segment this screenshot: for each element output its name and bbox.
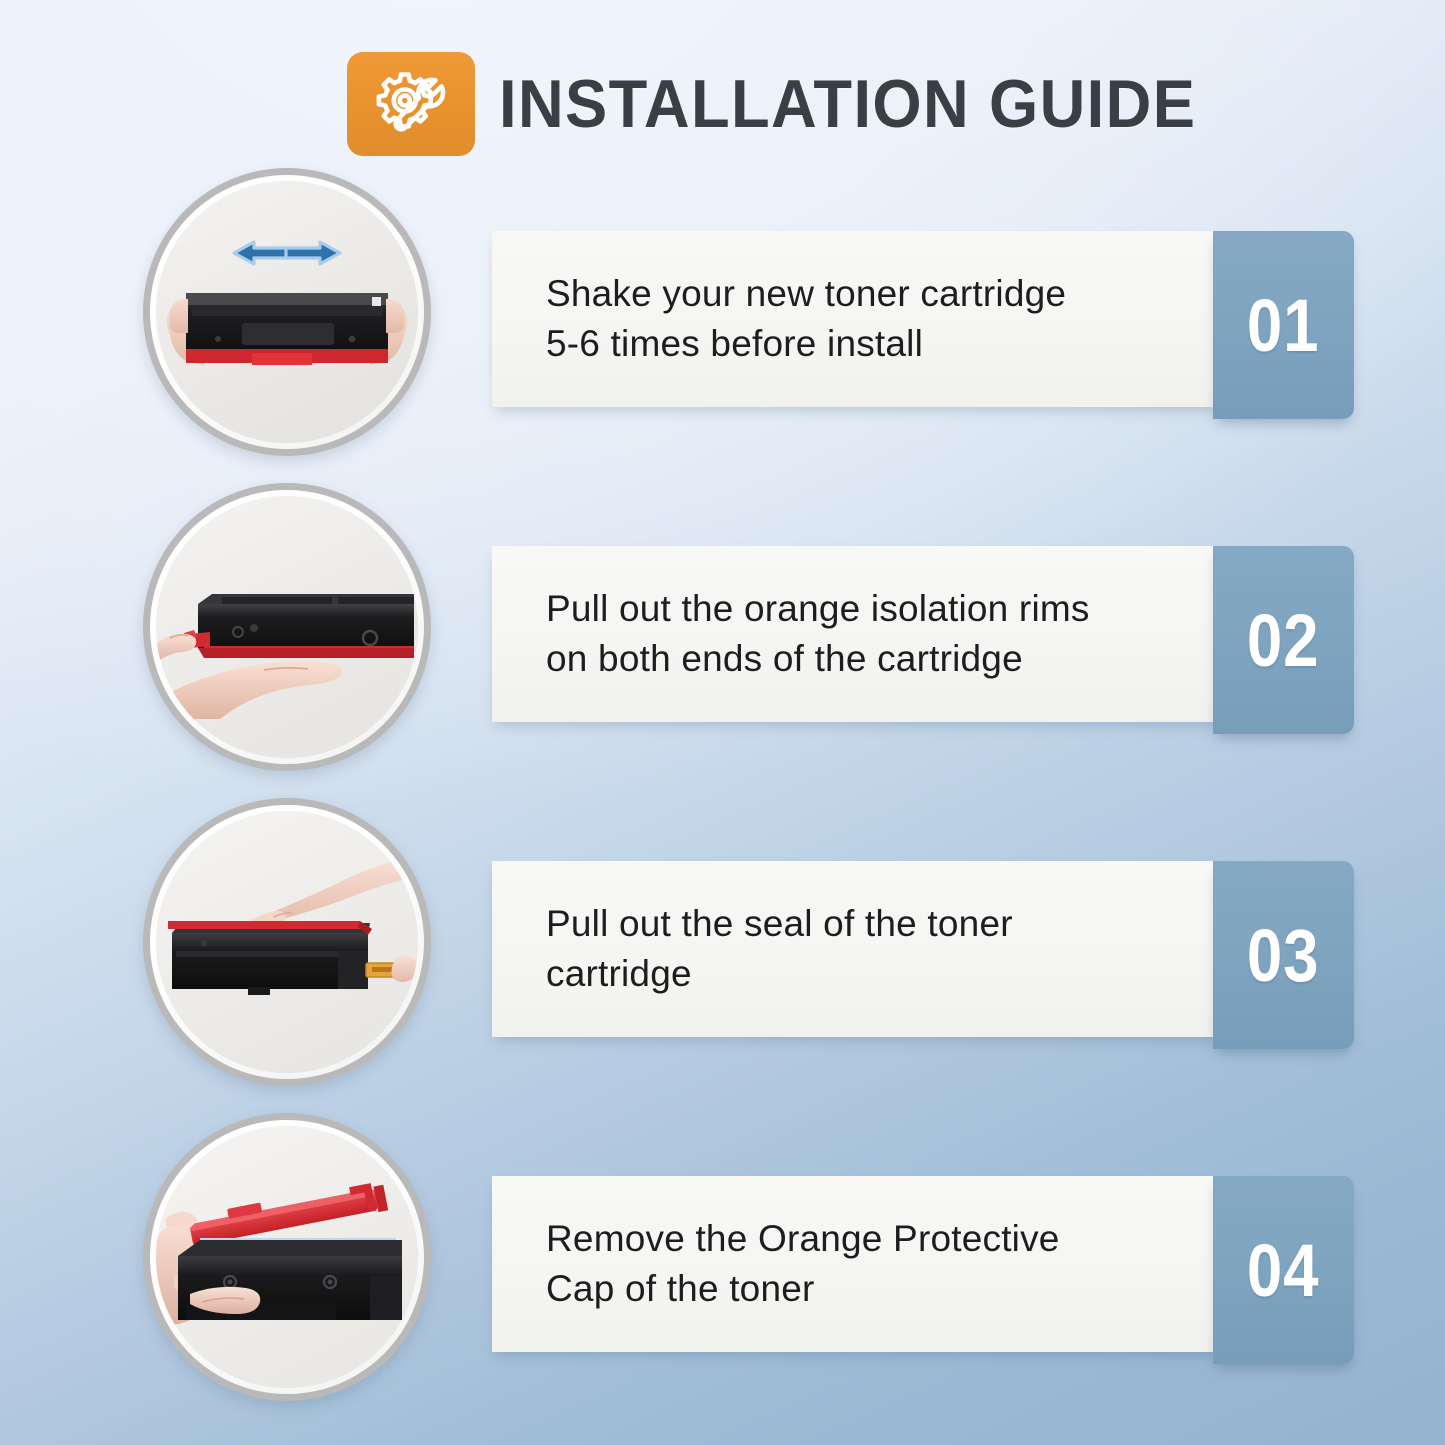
step-card-panel: Shake your new toner cartridge 5-6 times… <box>492 231 1219 407</box>
step-image-1 <box>143 168 431 456</box>
step-number-badge: 01 <box>1213 231 1354 419</box>
page-header: INSTALLATION GUIDE <box>347 52 1249 156</box>
step-number: 04 <box>1247 1228 1320 1313</box>
step-card: Pull out the seal of the toner cartridge… <box>492 861 1354 1049</box>
step-number-badge: 04 <box>1213 1176 1354 1364</box>
step-row: Remove the Orange Protective Cap of the … <box>0 1113 1445 1428</box>
step-card: Pull out the orange isolation rims on bo… <box>492 546 1354 734</box>
step-text: Remove the Orange Protective Cap of the … <box>546 1214 1186 1314</box>
step-card: Remove the Orange Protective Cap of the … <box>492 1176 1354 1364</box>
step-number: 01 <box>1247 283 1320 368</box>
step-number: 02 <box>1247 598 1320 683</box>
step-card-panel: Pull out the orange isolation rims on bo… <box>492 546 1219 722</box>
step-number-badge: 03 <box>1213 861 1354 1049</box>
step-image-3 <box>143 798 431 1086</box>
step-text: Pull out the orange isolation rims on bo… <box>546 584 1186 684</box>
step-image-2 <box>143 483 431 771</box>
step-image-4 <box>143 1113 431 1401</box>
gear-wrench-icon <box>347 52 475 156</box>
step-card: Shake your new toner cartridge 5-6 times… <box>492 231 1354 419</box>
step-card-panel: Remove the Orange Protective Cap of the … <box>492 1176 1219 1352</box>
step-card-panel: Pull out the seal of the toner cartridge <box>492 861 1219 1037</box>
installation-guide-page: INSTALLATION GUIDE <box>0 0 1445 1445</box>
step-text: Shake your new toner cartridge 5-6 times… <box>546 269 1186 369</box>
toner-pull-rims-photo <box>156 496 418 758</box>
toner-shake-photo <box>156 181 418 443</box>
step-number: 03 <box>1247 913 1320 998</box>
step-row: Shake your new toner cartridge 5-6 times… <box>0 168 1445 483</box>
toner-remove-cap-photo <box>156 1126 418 1388</box>
step-text: Pull out the seal of the toner cartridge <box>546 899 1186 999</box>
toner-pull-seal-photo <box>156 811 418 1073</box>
step-row: Pull out the orange isolation rims on bo… <box>0 483 1445 798</box>
page-title: INSTALLATION GUIDE <box>499 65 1196 143</box>
step-row: Pull out the seal of the toner cartridge… <box>0 798 1445 1113</box>
step-number-badge: 02 <box>1213 546 1354 734</box>
